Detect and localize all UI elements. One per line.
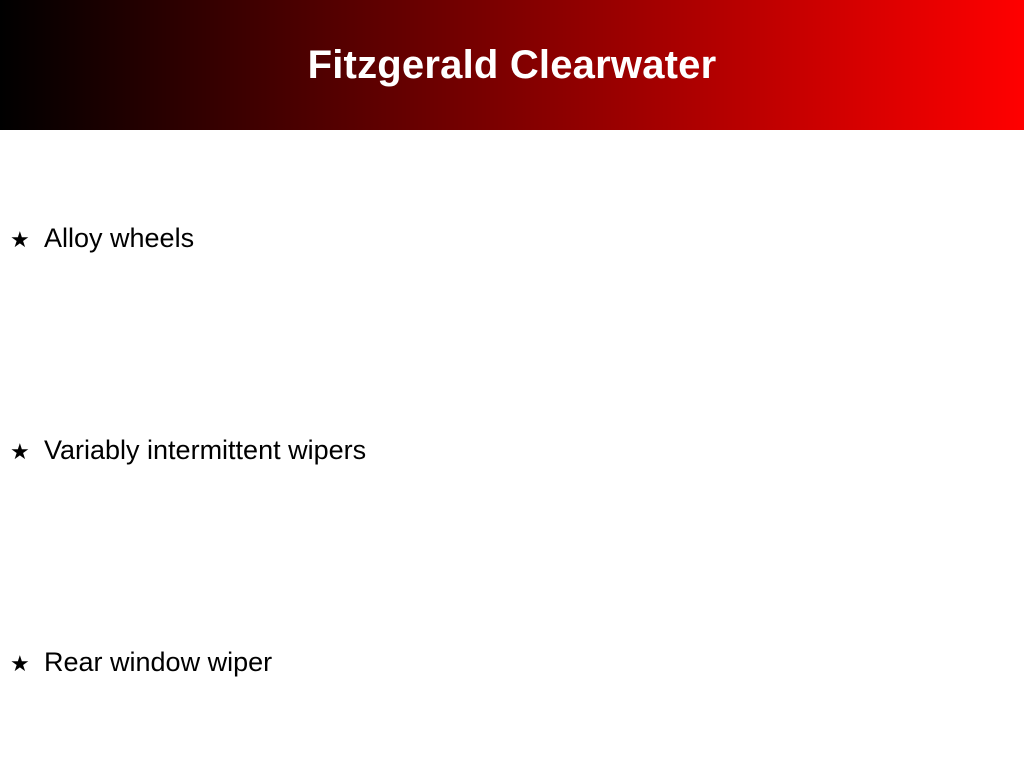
star-bullet-icon: ★ [10, 229, 44, 251]
slide-content-area: ★ Alloy wheels ★ Variably intermittent w… [0, 130, 1024, 768]
list-item-label: Variably intermittent wipers [44, 437, 366, 464]
page-title: Fitzgerald Clearwater [308, 45, 717, 85]
list-item: ★ Alloy wheels [10, 225, 194, 252]
slide-title-banner: Fitzgerald Clearwater [0, 0, 1024, 130]
list-item: ★ Rear window wiper [10, 649, 272, 676]
list-item-label: Alloy wheels [44, 225, 194, 252]
star-bullet-icon: ★ [10, 441, 44, 463]
list-item-label: Rear window wiper [44, 649, 272, 676]
bullet-list: ★ Alloy wheels ★ Variably intermittent w… [0, 130, 1024, 768]
presentation-slide: Fitzgerald Clearwater ★ Alloy wheels ★ V… [0, 0, 1024, 768]
list-item: ★ Variably intermittent wipers [10, 437, 366, 464]
star-bullet-icon: ★ [10, 653, 44, 675]
